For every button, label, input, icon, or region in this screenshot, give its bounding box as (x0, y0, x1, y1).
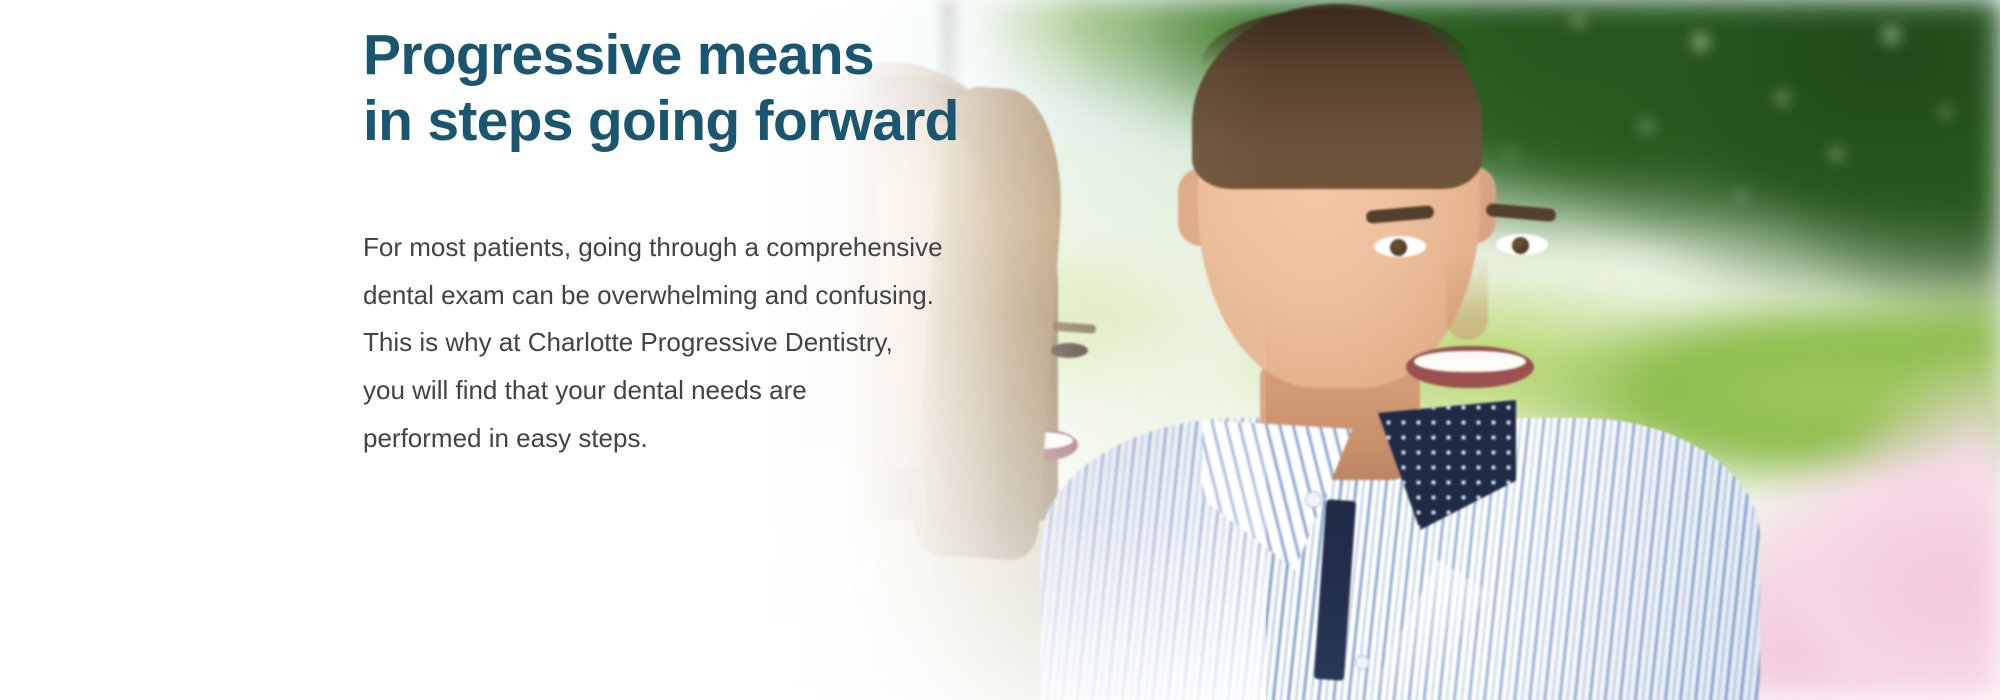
hero-copy-block: Progressive means in steps going forward… (363, 22, 963, 462)
hero-banner: Progressive means in steps going forward… (0, 0, 2000, 700)
hero-paragraph-line-5: performed in easy steps. (363, 415, 963, 463)
photo-subject-man (1070, 0, 1770, 700)
man-teeth (1414, 351, 1526, 372)
man-eye-left (1374, 236, 1426, 257)
hero-paragraph-line-2: dental exam can be overwhelming and conf… (363, 272, 963, 320)
man-hairline (1202, 8, 1470, 68)
hero-paragraph-line-4: you will find that your dental needs are (363, 367, 963, 415)
man-eye-right (1496, 234, 1548, 255)
man-iris-left (1390, 239, 1407, 256)
man-collar-button (1306, 492, 1321, 507)
man-iris-right (1512, 237, 1529, 254)
man-eyebrow-left (1366, 205, 1435, 224)
man-shirt-button (1356, 656, 1369, 669)
woman-necklace-pendant-pink (856, 560, 880, 594)
hero-heading-line-1: Progressive means (363, 22, 963, 88)
hero-paragraph: For most patients, going through a compr… (363, 224, 963, 462)
man-eyebrow-right (1486, 203, 1557, 222)
hero-heading: Progressive means in steps going forward (363, 22, 963, 154)
hero-heading-line-2: in steps going forward (363, 88, 963, 154)
hero-paragraph-line-1: For most patients, going through a compr… (363, 224, 963, 272)
man-nose (1446, 254, 1488, 340)
hero-paragraph-line-3: This is why at Charlotte Progressive Den… (363, 319, 963, 367)
man-smile (1406, 346, 1534, 388)
